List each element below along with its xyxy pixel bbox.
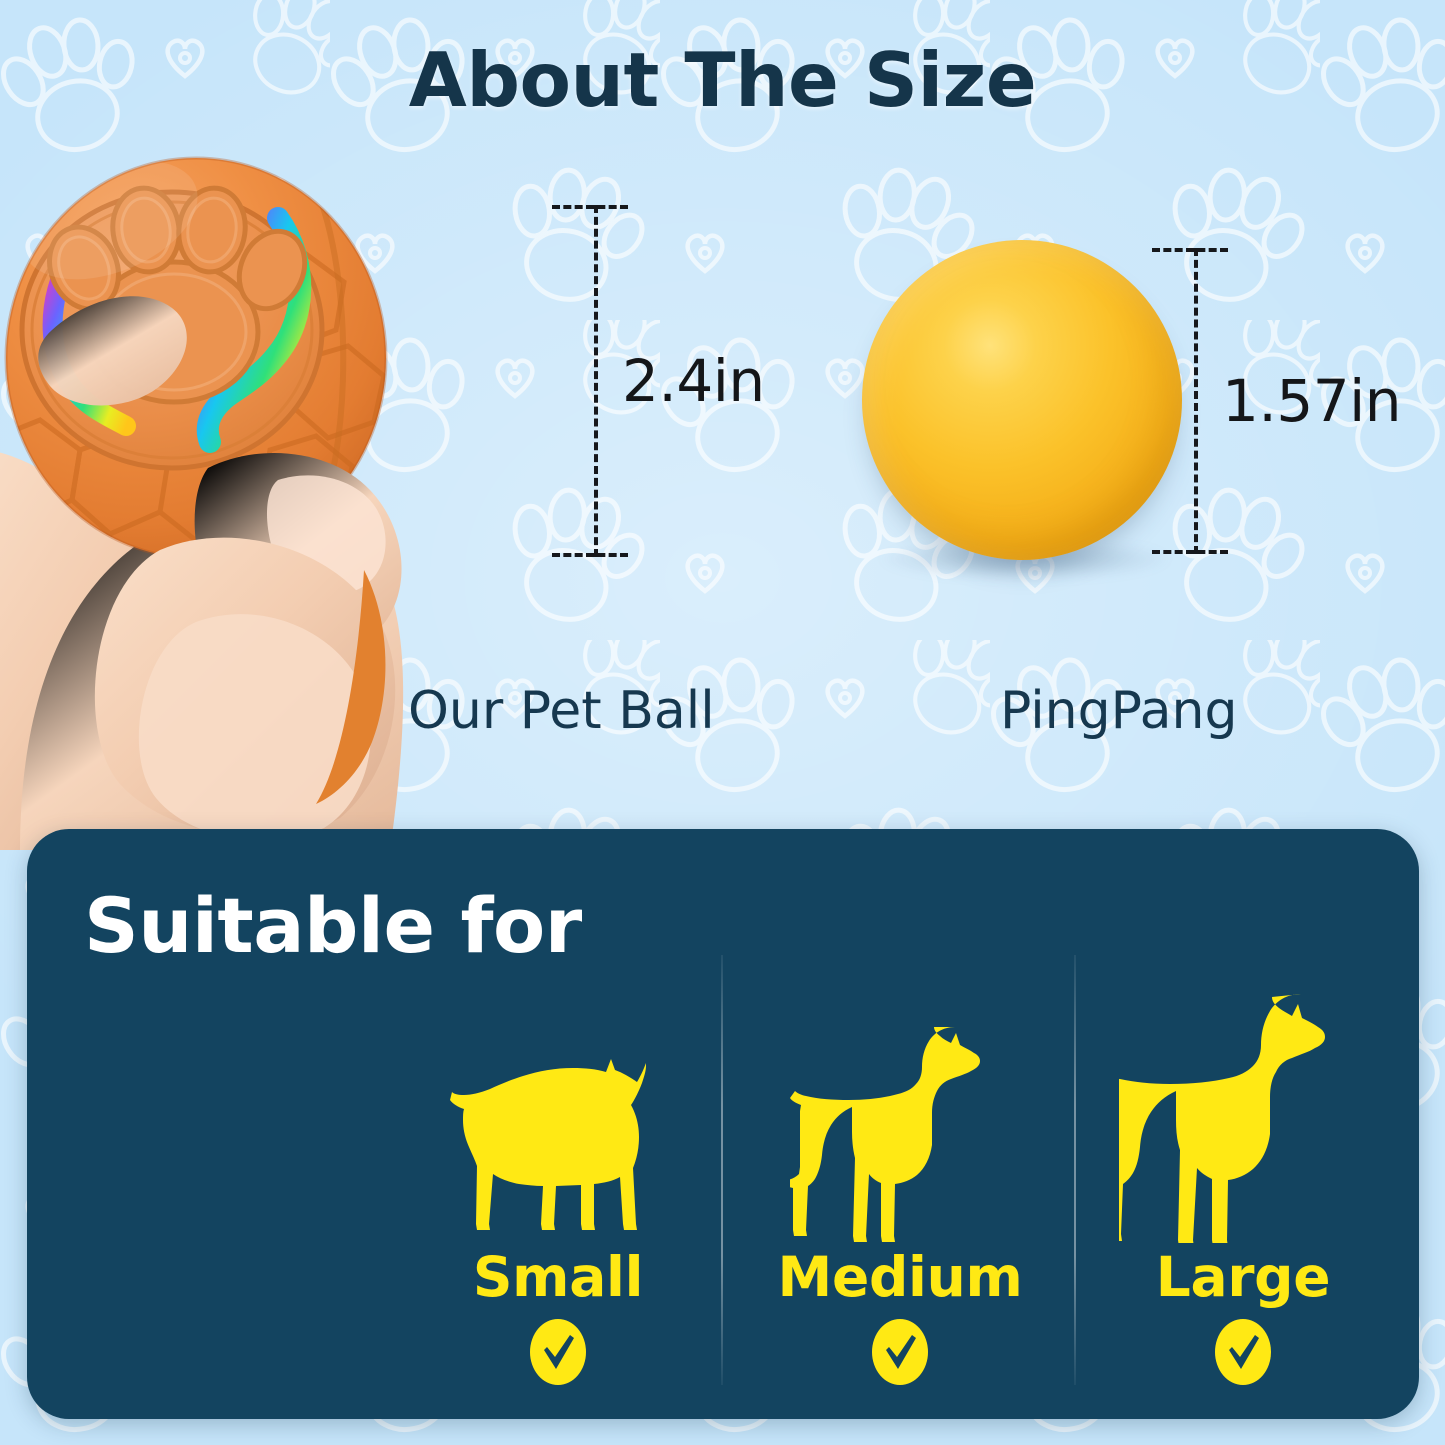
dimension-marker-pet-ball: 2.4in — [576, 205, 616, 557]
page-title: About The Size — [0, 36, 1445, 124]
check-icon — [882, 1333, 918, 1371]
dog-silhouette-large-icon — [1119, 991, 1367, 1243]
dog-silhouette-large-wrap — [1073, 975, 1413, 1243]
size-label-large: Large — [1073, 1249, 1413, 1307]
dimension-cap-bottom — [1152, 550, 1228, 554]
caption-our-pet-ball: Our Pet Ball — [408, 681, 715, 741]
dimension-label-pet-ball: 2.4in — [622, 347, 765, 415]
infographic-page: About The Size — [0, 0, 1445, 1445]
check-icon — [540, 1333, 576, 1371]
dimension-cap-bottom — [552, 553, 628, 557]
check-icon — [1225, 1333, 1261, 1371]
size-label-small: Small — [393, 1249, 723, 1307]
size-column-large: Large — [1073, 975, 1413, 1385]
size-column-medium: Medium — [735, 1005, 1065, 1385]
suitable-for-card: Suitable for Small Me — [27, 829, 1419, 1419]
check-badge-small — [530, 1319, 586, 1385]
caption-pingpang: PingPang — [1000, 681, 1237, 741]
dog-silhouette-medium-wrap — [735, 1005, 1065, 1243]
dimension-line — [1194, 248, 1198, 554]
dimension-marker-pingpang: 1.57in — [1176, 248, 1216, 554]
dimension-cap-top — [1152, 248, 1228, 252]
size-column-small: Small — [393, 1038, 723, 1385]
check-badge-medium — [872, 1319, 928, 1385]
dog-silhouette-medium-icon — [790, 1023, 1010, 1243]
suitable-for-title: Suitable for — [84, 881, 582, 970]
dog-silhouette-small-wrap — [393, 1038, 723, 1243]
dog-silhouette-small-icon — [450, 1055, 666, 1243]
dimension-cap-top — [552, 205, 628, 209]
dimension-line — [594, 205, 598, 557]
hand-holding-pet-ball-photo — [0, 150, 600, 850]
pingpang-ball — [862, 240, 1182, 560]
check-badge-large — [1215, 1319, 1271, 1385]
dimension-label-pingpang: 1.57in — [1222, 367, 1401, 435]
size-label-medium: Medium — [735, 1249, 1065, 1307]
